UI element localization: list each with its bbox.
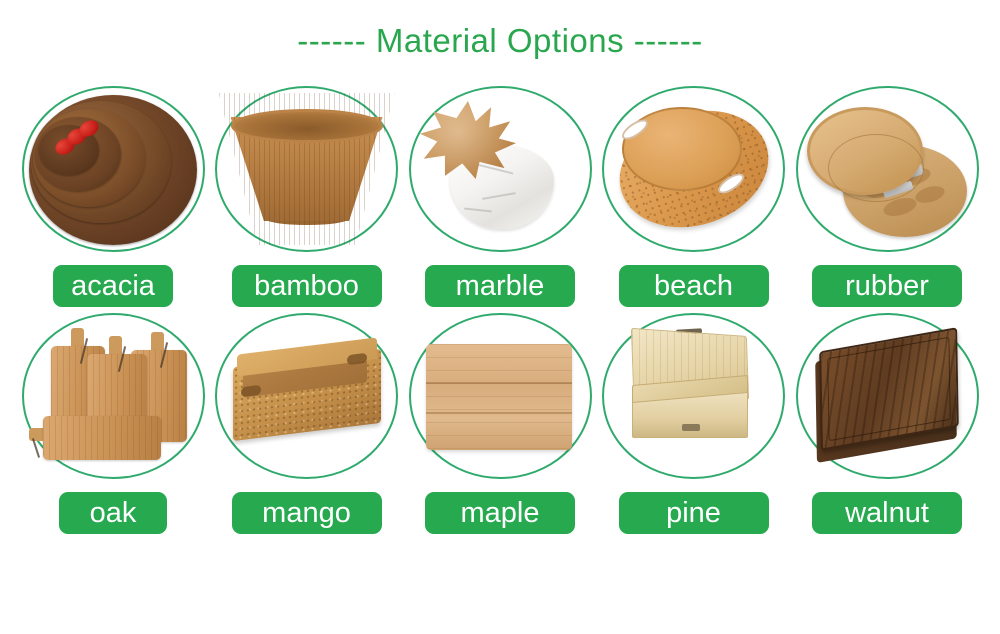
beech-oval-tray-image: [606, 93, 782, 245]
board-grain: [426, 344, 572, 450]
image-frame-marble: [409, 86, 592, 252]
material-label-acacia[interactable]: acacia: [53, 265, 173, 307]
material-label-marble[interactable]: marble: [425, 265, 575, 307]
material-card-pine[interactable]: pine: [599, 313, 789, 534]
board-seam: [426, 412, 572, 414]
page-title: ------ Material Options ------: [0, 22, 1000, 60]
acacia-wood-plates-image: [25, 93, 201, 245]
image-frame-oak: [22, 313, 205, 479]
board-body: [426, 344, 572, 450]
material-card-oak[interactable]: oak: [18, 313, 208, 534]
image-frame-beach: [602, 86, 785, 252]
material-card-bamboo[interactable]: bamboo: [212, 86, 402, 307]
image-frame-rubber: [796, 86, 979, 252]
image-frame-walnut: [796, 313, 979, 479]
image-frame-pine: [602, 313, 785, 479]
material-card-marble[interactable]: marble: [405, 86, 595, 307]
material-label-mango[interactable]: mango: [232, 492, 382, 534]
board-grain: [43, 416, 161, 460]
box-clasp: [682, 424, 700, 431]
oak-board: [43, 416, 161, 460]
material-grid: acacia bamboo: [18, 86, 982, 534]
maple-cutting-board-image: [412, 320, 588, 472]
material-card-rubber[interactable]: rubber: [792, 86, 982, 307]
material-label-rubber[interactable]: rubber: [812, 265, 962, 307]
board-seam: [426, 382, 572, 384]
material-label-walnut[interactable]: walnut: [812, 492, 962, 534]
material-card-beach[interactable]: beach: [599, 86, 789, 307]
mango-wood-tray-image: [219, 320, 395, 472]
pine-wooden-box-image: [606, 320, 782, 472]
image-frame-maple: [409, 313, 592, 479]
rubberwood-cheese-board-image: [799, 93, 975, 245]
bowl-rim: [231, 109, 383, 143]
oak-paddle-boards-image: [25, 320, 201, 472]
board-groove: [828, 134, 924, 202]
material-card-acacia[interactable]: acacia: [18, 86, 208, 307]
material-row-1: acacia bamboo: [18, 86, 982, 307]
material-card-mango[interactable]: mango: [212, 313, 402, 534]
walnut-cutting-board-image: [799, 320, 975, 472]
material-card-walnut[interactable]: walnut: [792, 313, 982, 534]
material-label-oak[interactable]: oak: [59, 492, 167, 534]
image-frame-bamboo: [215, 86, 398, 252]
pineapple-crown-texture: [420, 101, 516, 179]
material-row-2: oak mango: [18, 313, 982, 534]
marble-pineapple-board-image: [412, 93, 588, 245]
material-label-bamboo[interactable]: bamboo: [232, 265, 382, 307]
hanging-string: [32, 438, 40, 458]
material-card-maple[interactable]: maple: [405, 313, 595, 534]
material-label-beach[interactable]: beach: [619, 265, 769, 307]
image-frame-mango: [215, 313, 398, 479]
bamboo-bowl-image: [219, 93, 395, 245]
material-label-maple[interactable]: maple: [425, 492, 575, 534]
material-options-page: ------ Material Options ------: [0, 0, 1000, 634]
material-label-pine[interactable]: pine: [619, 492, 769, 534]
cheese-board-top: [807, 107, 923, 195]
image-frame-acacia: [22, 86, 205, 252]
